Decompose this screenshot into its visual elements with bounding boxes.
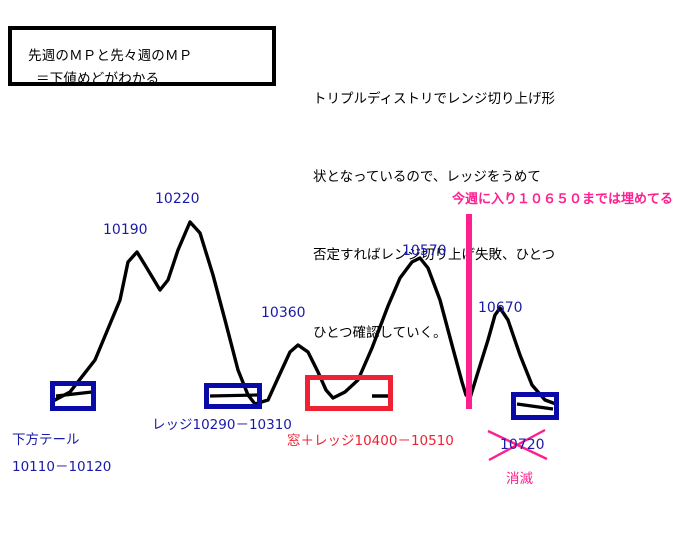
crossed-price-label: 10720 [500,437,545,453]
price-label-10360: 10360 [261,305,306,321]
memo-line-1: 先週のＭＰと先々週のＭＰ [28,44,192,64]
extinguished-label: 消滅 [506,467,533,487]
explanation-line-4: ひとつ確認していく。 [313,320,613,346]
window-ledge-zone [305,375,393,411]
explanation-line-3: 否定すればレンジ切り上げ失敗、ひとつ [313,242,613,268]
ledge-zone [204,383,262,409]
explanation-line-1: トリプルディストリでレンジ切り上げ形 [313,86,613,112]
price-label-10670: 10670 [478,300,523,316]
right-tail-zone [511,392,559,420]
price-label-10220: 10220 [155,191,200,207]
price-label-10190: 10190 [103,222,148,238]
weekly-fill-note: 今週に入り１０６５０までは埋めてる [452,188,673,207]
window-ledge-label: 窓＋レッジ10400－10510 [287,429,454,449]
lower-tail-zone [50,381,96,411]
lower-tail-label: 下方テール [12,428,80,448]
price-label-10570: 10570 [402,243,447,259]
explanation-line-2: 状となっているので、レッジをうめて [313,164,613,190]
explanation-paragraph: トリプルディストリでレンジ切り上げ形 状となっているので、レッジをうめて 否定す… [313,34,613,398]
lower-tail-range: 10110－10120 [12,455,111,475]
ledge-label: レッジ10290－10310 [152,413,292,433]
current-week-divider [466,214,472,409]
memo-box: 先週のＭＰと先々週のＭＰ ＝下値めどがわかる [8,26,276,86]
memo-line-2: ＝下値めどがわかる [36,67,159,87]
drawing-canvas: 先週のＭＰと先々週のＭＰ ＝下値めどがわかる トリプルディストリでレンジ切り上げ… [0,0,691,560]
